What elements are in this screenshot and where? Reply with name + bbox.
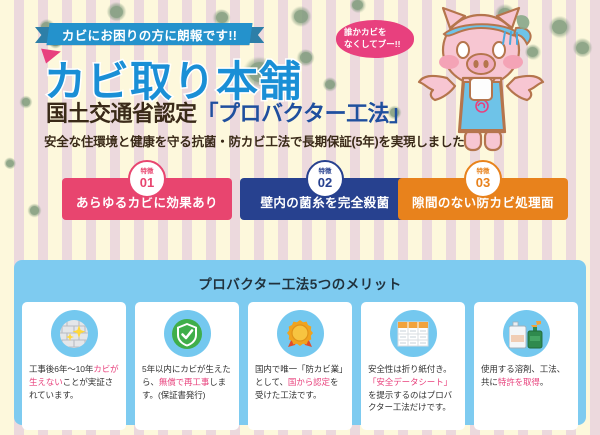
gold-medal-icon	[277, 310, 324, 357]
mold-spot	[6, 160, 14, 167]
mold-spot	[294, 10, 308, 23]
merit-text-part: 。	[540, 377, 548, 387]
announcement-ribbon: カビにお困りの方に朗報です!!	[48, 23, 251, 45]
merit-card[interactable]: 国内で唯一「防カビ業」として、国から認定を受けた工法です。	[248, 302, 352, 430]
merit-card[interactable]: 5年以内にカビが生えたら、無償で再工事します。(保証書発行)	[135, 302, 239, 430]
speech-bubble-line-2: なくしてブー!!	[344, 38, 414, 50]
merit-text-highlight: 無償で再工事	[159, 377, 209, 387]
merit-text: 使用する溶剤、工法、共に特許を取得。	[481, 363, 571, 389]
lead-paragraph: 安全な住環境と健康を守る抗菌・防カビ工法で長期保証(5年)を実現しました!	[44, 131, 469, 150]
merit-text-part: 工事後6年～10年	[29, 364, 93, 374]
feature-number-badge-03: 特徴 03	[464, 160, 502, 198]
mold-spot	[216, 12, 228, 23]
feature-number-03: 03	[476, 176, 490, 189]
landing-page: カビにお困りの方に朗報です!! カビ取り本舗 国土交通省認定「プロバクター工法」…	[0, 0, 600, 435]
mold-spot	[22, 98, 30, 106]
mold-spot	[30, 206, 39, 215]
feature-number-badge-02: 特徴 02	[306, 160, 344, 198]
merits-panel: プロバクター工法5つのメリット	[14, 260, 586, 425]
merits-title: プロバクター工法5つのメリット	[22, 268, 578, 302]
data-sheet-table-icon	[390, 310, 437, 357]
mold-spot	[110, 6, 123, 18]
sub-title-prefix: 国土交通省認定	[46, 101, 197, 126]
merit-card[interactable]: 使用する溶剤、工法、共に特許を取得。	[474, 302, 578, 430]
mold-spot	[352, 0, 363, 10]
merit-text-part: を提示するのはプロバクター工法だけです。	[368, 390, 452, 413]
speech-bubble-tail	[39, 49, 61, 66]
feature-number-badge-01: 特徴 01	[128, 160, 166, 198]
speech-bubble-text: 誰かカビを なくしてブー!!	[344, 26, 414, 51]
merit-text-part: 安全性は折り紙付き。	[368, 364, 452, 374]
merit-card[interactable]: 安全性は折り紙付き。「安全データシート」を提示するのはプロバクター工法だけです。	[361, 302, 465, 430]
sub-title-highlight: 「プロバクター工法」	[197, 101, 411, 126]
merit-text-highlight: 特許を取得	[498, 377, 540, 387]
feature-badge-02[interactable]: 特徴 02 壁内の菌糸を完全殺菌	[240, 178, 410, 220]
ribbon-body: カビにお困りの方に朗報です!!	[46, 23, 252, 45]
sub-title: 国土交通省認定「プロバクター工法」	[46, 96, 411, 128]
mold-spot	[576, 42, 589, 54]
merit-text-highlight: 国から認定	[288, 377, 330, 387]
feature-number-01: 01	[140, 176, 154, 189]
merit-text: 安全性は折り紙付き。「安全データシート」を提示するのはプロバクター工法だけです。	[368, 363, 458, 414]
merit-card-list: 工事後6年～10年カビが生えないことが実証されています。 5年以内にカビが生えた…	[22, 302, 578, 430]
green-shield-check-icon	[164, 310, 211, 357]
merit-card[interactable]: 工事後6年～10年カビが生えないことが実証されています。	[22, 302, 126, 430]
mold-spot	[325, 80, 335, 89]
feature-number-02: 02	[318, 176, 332, 189]
feature-badge-03[interactable]: 特徴 03 隙間のない防カビ処理面	[398, 178, 568, 220]
speech-bubble-line-1: 誰かカビを	[344, 26, 414, 38]
ribbon-text: カビにお困りの方に朗報です!!	[62, 25, 237, 44]
merit-text: 国内で唯一「防カビ業」として、国から認定を受けた工法です。	[255, 363, 345, 401]
merit-text: 5年以内にカビが生えたら、無償で再工事します。(保証書発行)	[142, 363, 232, 401]
merit-text: 工事後6年～10年カビが生えないことが実証されています。	[29, 363, 119, 401]
merit-text-highlight: 「安全データシート」	[368, 377, 452, 387]
solvent-bottle-spray-icon	[503, 310, 550, 357]
pig-mascot-icon	[417, 2, 557, 157]
brick-wall-sparkle-icon	[51, 310, 98, 357]
feature-badge-01[interactable]: 特徴 01 あらゆるカビに効果あり	[62, 178, 232, 220]
